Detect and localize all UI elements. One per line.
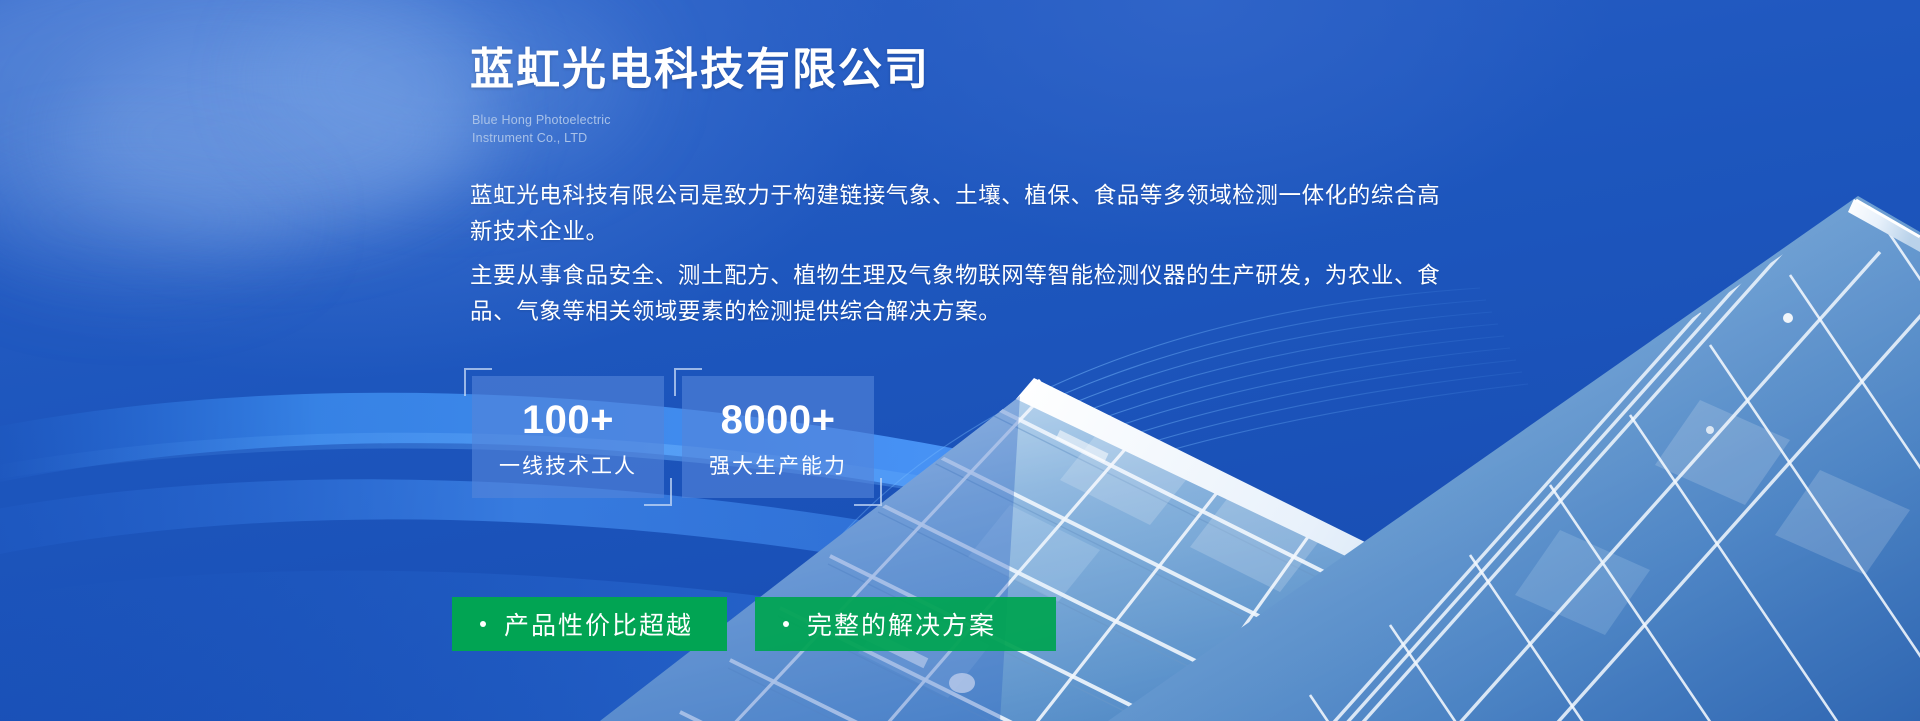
stat-value: 100+ — [522, 400, 614, 440]
company-name-cn: 蓝虹光电科技有限公司 — [470, 44, 930, 96]
feature-tag-label: 产品性价比超越 — [504, 606, 693, 642]
company-name-en-line2: Instrument Co., LTD — [472, 130, 772, 148]
feature-tag[interactable]: 产品性价比超越 — [452, 597, 727, 651]
feature-tags-group: 产品性价比超越 完整的解决方案 — [452, 597, 1056, 651]
bullet-dot-icon — [480, 621, 486, 627]
company-name-en: Blue Hong Photoelectric Instrument Co., … — [472, 112, 772, 148]
stats-group: 100+ 一线技术工人 8000+ 强大生产能力 — [472, 376, 874, 498]
description-paragraph-2: 主要从事食品安全、测土配方、植物生理及气象物联网等智能检测仪器的生产研发，为农业… — [470, 258, 1455, 329]
stat-card: 8000+ 强大生产能力 — [682, 376, 874, 498]
description-paragraph-1: 蓝虹光电科技有限公司是致力于构建链接气象、土壤、植保、食品等多领域检测一体化的综… — [470, 178, 1455, 249]
banner-content: 蓝虹光电科技有限公司 Blue Hong Photoelectric Instr… — [470, 0, 1570, 721]
stat-label: 强大生产能力 — [709, 456, 847, 477]
feature-tag-label: 完整的解决方案 — [807, 606, 996, 642]
bullet-dot-icon — [783, 621, 789, 627]
stat-label: 一线技术工人 — [499, 456, 637, 477]
company-name-en-line1: Blue Hong Photoelectric — [472, 112, 772, 130]
hero-banner: 蓝虹光电科技有限公司 Blue Hong Photoelectric Instr… — [0, 0, 1920, 721]
stat-card: 100+ 一线技术工人 — [472, 376, 664, 498]
stat-value: 8000+ — [721, 400, 836, 440]
feature-tag[interactable]: 完整的解决方案 — [755, 597, 1056, 651]
